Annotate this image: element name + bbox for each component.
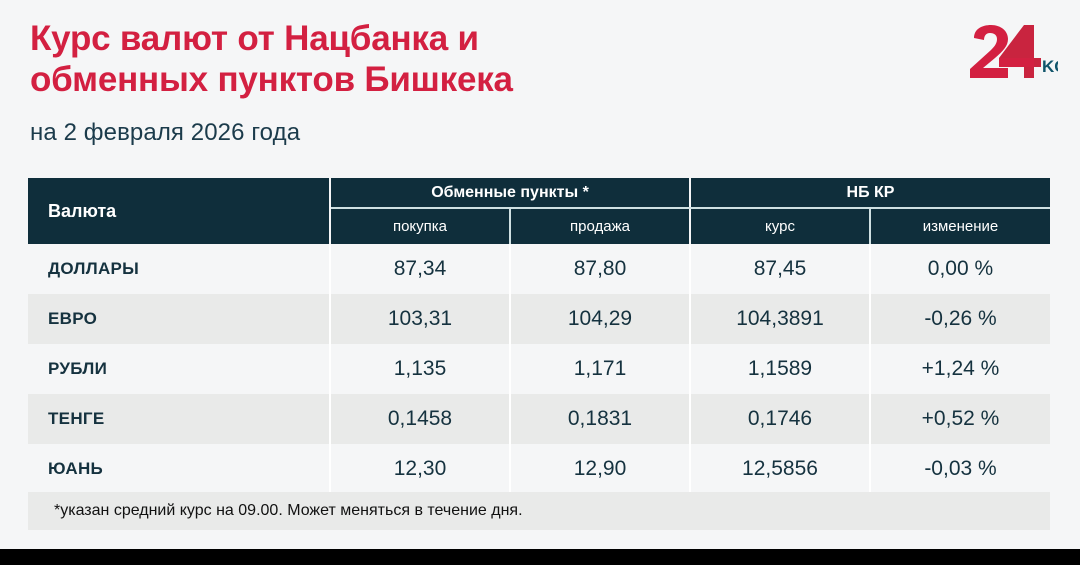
cell-sell-rate: 104,29 bbox=[510, 294, 690, 344]
cell-buy-rate: 0,1458 bbox=[330, 394, 510, 444]
cell-currency-name: ЮАНЬ bbox=[28, 444, 330, 494]
cell-nbkr-change: -0,03 % bbox=[870, 444, 1050, 494]
cell-currency-name: РУБЛИ bbox=[28, 344, 330, 394]
cell-nbkr-rate: 1,1589 bbox=[690, 344, 870, 394]
column-header-rate: курс bbox=[690, 208, 870, 244]
cell-buy-rate: 1,135 bbox=[330, 344, 510, 394]
brand-logo-24kg: KG bbox=[962, 24, 1058, 80]
cell-nbkr-change: 0,00 % bbox=[870, 244, 1050, 294]
column-header-buy: покупка bbox=[330, 208, 510, 244]
column-header-sell: продажа bbox=[510, 208, 690, 244]
infographic-page: Курс валют от Нацбанка и обменных пункто… bbox=[0, 0, 1080, 565]
column-group-header-nbkr: НБ КР bbox=[690, 178, 1050, 208]
bottom-bar bbox=[0, 549, 1080, 565]
column-header-change: изменение bbox=[870, 208, 1050, 244]
column-header-currency: Валюта bbox=[28, 178, 330, 244]
cell-currency-name: ДОЛЛАРЫ bbox=[28, 244, 330, 294]
currency-rates-table: Валюта Обменные пункты * НБ КР покупка п… bbox=[28, 178, 1050, 494]
cell-buy-rate: 12,30 bbox=[330, 444, 510, 494]
cell-nbkr-rate: 87,45 bbox=[690, 244, 870, 294]
cell-nbkr-rate: 0,1746 bbox=[690, 394, 870, 444]
cell-sell-rate: 1,171 bbox=[510, 344, 690, 394]
cell-nbkr-change: -0,26 % bbox=[870, 294, 1050, 344]
cell-nbkr-change: +1,24 % bbox=[870, 344, 1050, 394]
page-subtitle: на 2 февраля 2026 года bbox=[30, 119, 930, 147]
cell-nbkr-rate: 12,5856 bbox=[690, 444, 870, 494]
table-footnote: *указан средний курс на 09.00. Может мен… bbox=[28, 492, 1050, 530]
cell-sell-rate: 87,80 bbox=[510, 244, 690, 294]
table-row: ДОЛЛАРЫ87,3487,8087,450,00 % bbox=[28, 244, 1050, 294]
header-row-groups: Валюта Обменные пункты * НБ КР bbox=[28, 178, 1050, 208]
cell-buy-rate: 87,34 bbox=[330, 244, 510, 294]
cell-sell-rate: 12,90 bbox=[510, 444, 690, 494]
table-head: Валюта Обменные пункты * НБ КР покупка п… bbox=[28, 178, 1050, 244]
table-row: ЕВРО103,31104,29104,3891-0,26 % bbox=[28, 294, 1050, 344]
svg-text:KG: KG bbox=[1042, 57, 1058, 76]
cell-sell-rate: 0,1831 bbox=[510, 394, 690, 444]
table-row: ТЕНГЕ0,14580,18310,1746+0,52 % bbox=[28, 394, 1050, 444]
cell-buy-rate: 103,31 bbox=[330, 294, 510, 344]
page-title: Курс валют от Нацбанка и обменных пункто… bbox=[30, 18, 930, 101]
table-row: ЮАНЬ12,3012,9012,5856-0,03 % bbox=[28, 444, 1050, 494]
cell-currency-name: ТЕНГЕ bbox=[28, 394, 330, 444]
column-group-header-exchange-points: Обменные пункты * bbox=[330, 178, 690, 208]
footnote-text: *указан средний курс на 09.00. Может мен… bbox=[28, 502, 523, 520]
cell-nbkr-change: +0,52 % bbox=[870, 394, 1050, 444]
cell-currency-name: ЕВРО bbox=[28, 294, 330, 344]
page-header: Курс валют от Нацбанка и обменных пункто… bbox=[30, 18, 930, 147]
logo-24kg-icon: KG bbox=[962, 24, 1058, 80]
cell-nbkr-rate: 104,3891 bbox=[690, 294, 870, 344]
table-body: ДОЛЛАРЫ87,3487,8087,450,00 %ЕВРО103,3110… bbox=[28, 244, 1050, 494]
table-row: РУБЛИ1,1351,1711,1589+1,24 % bbox=[28, 344, 1050, 394]
rates-table-container: Валюта Обменные пункты * НБ КР покупка п… bbox=[28, 178, 1050, 494]
